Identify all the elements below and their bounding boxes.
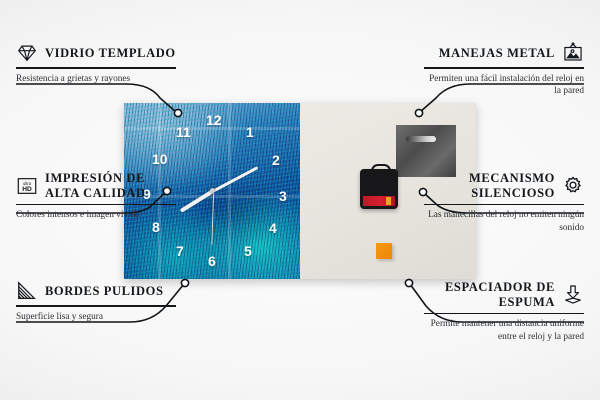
callout-rule	[16, 305, 176, 307]
callout-header: BORDES PULIDOS	[16, 280, 176, 302]
svg-text:HD: HD	[22, 186, 32, 193]
callout-body: Las manecillas del reloj no emiten ningú…	[424, 209, 584, 234]
clock-numeral-10: 10	[152, 152, 168, 166]
arrow-down-onto-pad-icon	[562, 284, 584, 306]
clock-numeral-12: 12	[206, 113, 222, 127]
clock-numeral-3: 3	[279, 189, 287, 203]
callout-rule	[424, 67, 584, 69]
callout-manejas-metal: MANEJAS METAL Permiten una fácil instala…	[424, 42, 584, 98]
callout-header: MANEJAS METAL	[424, 42, 584, 64]
clock-center-cap	[210, 188, 215, 193]
callout-title: VIDRIO TEMPLADO	[45, 46, 176, 61]
gear-icon	[562, 175, 584, 197]
callout-rule	[16, 67, 176, 69]
clock-numeral-1: 1	[246, 125, 254, 139]
callout-rule	[16, 204, 176, 206]
hanger-slot	[406, 136, 436, 142]
callout-header: ESPACIADOR DE ESPUMA	[424, 280, 584, 310]
callout-body: Superficie lisa y segura	[16, 311, 176, 324]
ultra-hd-icon: ultra HD	[16, 175, 38, 197]
picture-frame-hanging-icon	[562, 42, 584, 64]
metal-hanger-plate	[396, 125, 456, 177]
foam-spacer	[376, 243, 392, 259]
clock-mechanism	[360, 169, 398, 209]
callout-impresion-alta-calidad: ultra HD IMPRESIÓN DE ALTA CALIDAD Color…	[16, 171, 176, 222]
clock-numeral-6: 6	[208, 254, 216, 268]
callout-rule	[424, 313, 584, 315]
callout-header: MECANISMO SILENCIOSO	[424, 171, 584, 201]
mechanism-hanging-loop	[371, 164, 391, 174]
callout-header: VIDRIO TEMPLADO	[16, 42, 176, 64]
callout-title: MECANISMO SILENCIOSO	[424, 171, 555, 201]
clock-numeral-8: 8	[152, 220, 160, 234]
mechanism-battery-label	[363, 196, 395, 206]
callout-body: Resistencia a grietas y rayones	[16, 73, 176, 86]
callout-title: MANEJAS METAL	[439, 46, 555, 61]
callout-bordes-pulidos: BORDES PULIDOS Superficie lisa y segura	[16, 280, 176, 323]
callout-title: ESPACIADOR DE ESPUMA	[424, 280, 555, 310]
diamond-icon	[16, 42, 38, 64]
callout-body: Permite mantener una distancia uniforme …	[424, 318, 584, 343]
callout-body: Permiten una fácil instalación del reloj…	[424, 73, 584, 98]
callout-vidrio-templado: VIDRIO TEMPLADO Resistencia a grietas y …	[16, 42, 176, 85]
clock-numeral-7: 7	[176, 244, 184, 258]
callout-title: IMPRESIÓN DE ALTA CALIDAD	[45, 171, 176, 201]
callout-mecanismo-silencioso: MECANISMO SILENCIOSO Las manecillas del …	[424, 171, 584, 234]
clock-numeral-4: 4	[269, 221, 277, 235]
callout-body: Colores intensos e imagen vívida	[16, 209, 176, 222]
polished-edges-icon	[16, 280, 38, 302]
clock-numeral-2: 2	[272, 153, 280, 167]
callout-header: ultra HD IMPRESIÓN DE ALTA CALIDAD	[16, 171, 176, 201]
callout-rule	[424, 204, 584, 206]
callout-espaciador-espuma: ESPACIADOR DE ESPUMA Permite mantener un…	[424, 280, 584, 343]
infographic-canvas: 12 1 2 3 4 5 6 7 8 9 10 11	[0, 0, 600, 400]
clock-numeral-5: 5	[244, 244, 252, 258]
callout-title: BORDES PULIDOS	[45, 284, 164, 299]
clock-numeral-11: 11	[176, 125, 191, 139]
